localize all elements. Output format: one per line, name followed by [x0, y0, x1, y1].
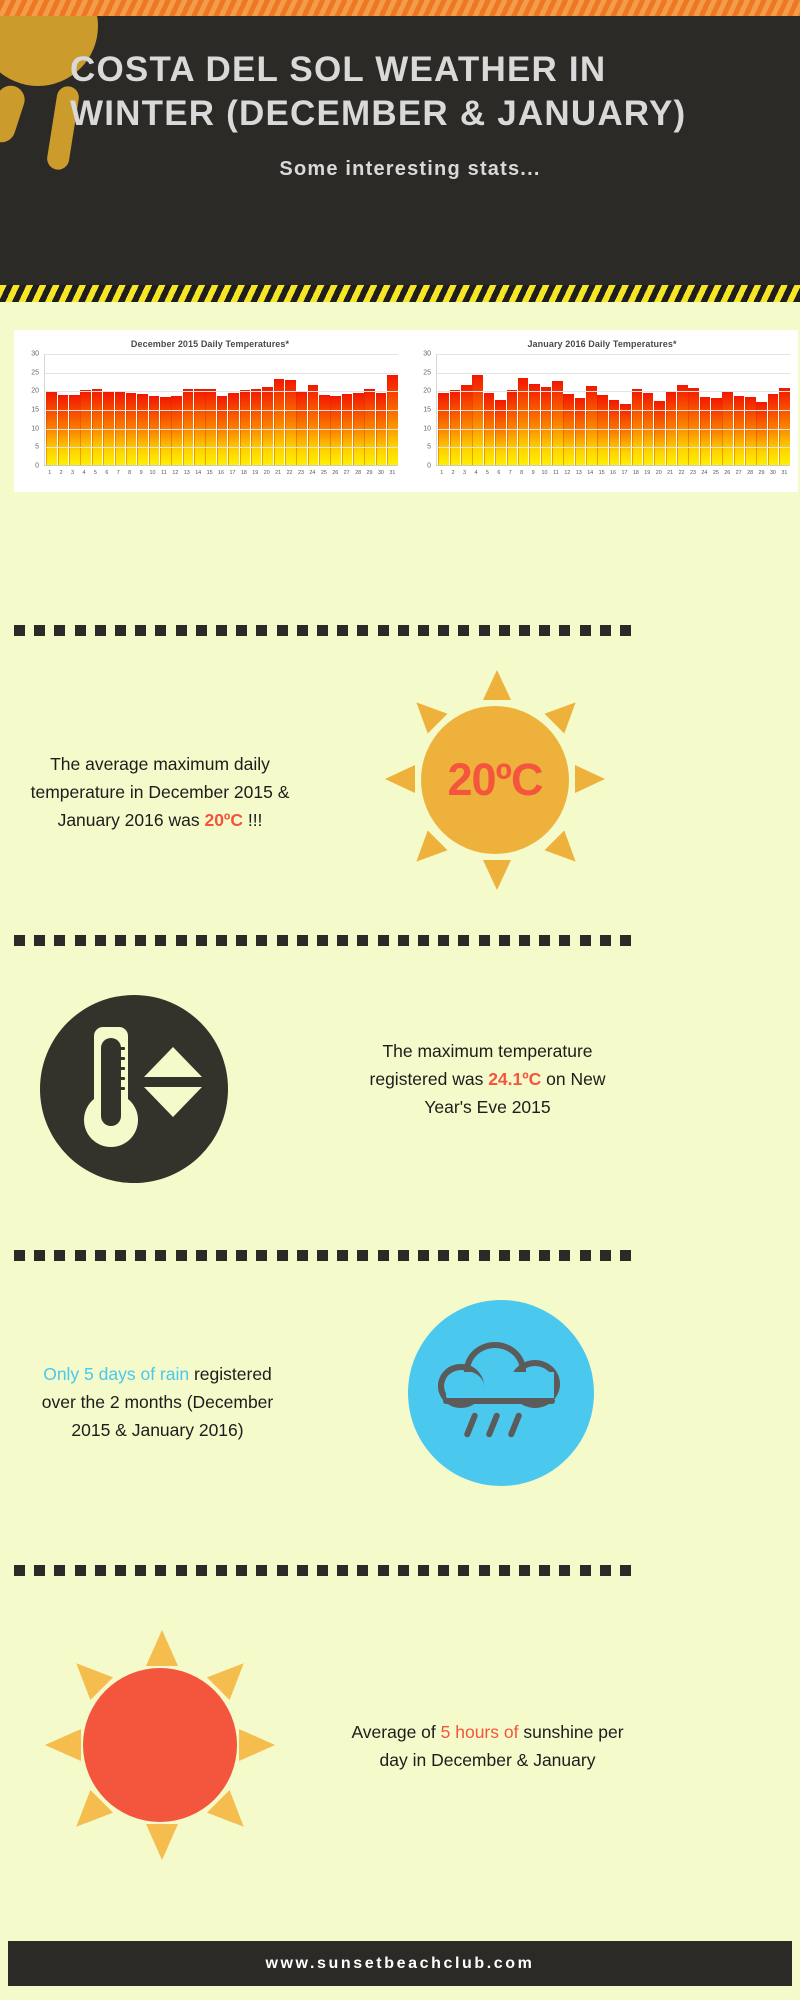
chart-january-bar [575, 398, 586, 465]
dash-square [176, 935, 187, 946]
dash-square [600, 1565, 611, 1576]
chart-december-bar [183, 389, 194, 465]
chart-december-x-tick: 3 [67, 468, 78, 480]
dash-square [559, 625, 570, 636]
chart-january-y-tick: 30 [423, 351, 431, 358]
chart-december-x-tick: 20 [261, 468, 272, 480]
dash-square [499, 1250, 510, 1261]
chart-january-y-tick: 10 [423, 425, 431, 432]
chart-january-bar [745, 397, 756, 465]
dash-square [155, 625, 166, 636]
chart-december-grid [44, 354, 398, 466]
sun-ray-icon [385, 765, 415, 793]
raindrop-icon [507, 1412, 522, 1438]
infographic-page: COSTA DEL SOL WEATHER IN WINTER (DECEMBE… [0, 0, 800, 2000]
chart-december-x-tick: 15 [204, 468, 215, 480]
dash-square [479, 1250, 490, 1261]
dash-square [297, 1565, 308, 1576]
dash-square [479, 1565, 490, 1576]
dash-square [458, 1565, 469, 1576]
chart-january-x-tick: 9 [527, 468, 538, 480]
dash-square [155, 1250, 166, 1261]
chart-january-bar [541, 387, 552, 465]
chart-january-bar [677, 385, 688, 465]
chart-december-x-tick: 4 [78, 468, 89, 480]
chart-december-bar [194, 389, 205, 465]
chart-january-x-tick: 13 [573, 468, 584, 480]
dash-square [337, 1250, 348, 1261]
dash-square [438, 1250, 449, 1261]
chart-january-x-tick: 8 [516, 468, 527, 480]
dash-square [499, 1565, 510, 1576]
chart-january-bar [632, 389, 643, 465]
chart-january-x-axis: 1234567891011121314151617181920212223242… [436, 468, 790, 480]
footer-bar: www.sunsetbeachclub.com [8, 1941, 792, 1986]
dash-square [479, 625, 490, 636]
chart-january-x-tick: 2 [447, 468, 458, 480]
dash-square [539, 1250, 550, 1261]
dash-square [216, 1250, 227, 1261]
dash-square [277, 935, 288, 946]
dash-square [418, 625, 429, 636]
dash-square [95, 935, 106, 946]
chart-december-x-tick: 17 [227, 468, 238, 480]
dash-square [519, 1565, 530, 1576]
dash-square [135, 1250, 146, 1261]
chart-december-bar [262, 387, 273, 465]
dash-square [580, 1565, 591, 1576]
dash-square [600, 935, 611, 946]
dash-square [216, 1565, 227, 1576]
chart-january-x-tick: 31 [779, 468, 790, 480]
chart-december-gridline [45, 410, 398, 411]
dash-square [95, 1565, 106, 1576]
thermometer-mark [112, 1067, 125, 1070]
chart-january-x-tick: 5 [482, 468, 493, 480]
dash-square [34, 1565, 45, 1576]
chart-january-bar [597, 395, 608, 465]
dash-square [297, 935, 308, 946]
chart-december-x-tick: 7 [113, 468, 124, 480]
arrow-down-icon [144, 1087, 202, 1117]
chart-january-x-tick: 25 [710, 468, 721, 480]
rain-cloud-icon [408, 1300, 594, 1486]
chart-january-gridline [437, 373, 790, 374]
chart-december-y-tick: 0 [35, 463, 39, 470]
chart-january-x-tick: 15 [596, 468, 607, 480]
dashed-divider-2 [14, 935, 624, 946]
dash-square [458, 935, 469, 946]
chart-january-bar [586, 386, 597, 465]
thermometer-mark [112, 1077, 125, 1080]
dashed-divider-1 [14, 625, 624, 636]
chart-december-x-tick: 29 [364, 468, 375, 480]
chart-december-bar [364, 389, 375, 465]
dash-square [438, 1565, 449, 1576]
chart-december-x-tick: 22 [284, 468, 295, 480]
thermometer-mark [112, 1047, 125, 1050]
chart-december-y-tick: 25 [31, 369, 39, 376]
dash-square [317, 1565, 328, 1576]
chart-december-x-tick: 24 [307, 468, 318, 480]
stat-rain-days-text: Only 5 days of rain registered over the … [25, 1360, 290, 1444]
dash-square [519, 935, 530, 946]
sun-ray-icon [146, 1824, 178, 1860]
chart-january-bar [734, 396, 745, 465]
dash-square [539, 1565, 550, 1576]
sun-icon: 20ºC [385, 670, 605, 890]
stat-sunshine-hours-text: Average of 5 hours of sunshine per day i… [350, 1718, 625, 1774]
chart-january-x-tick: 29 [756, 468, 767, 480]
chart-december-bar [251, 389, 262, 465]
dash-square [418, 1250, 429, 1261]
sun-ray-icon [575, 765, 605, 793]
chart-december-x-tick: 1 [44, 468, 55, 480]
stat-max-temperature: The maximum temperature registered was 2… [0, 985, 640, 1185]
dash-square [216, 935, 227, 946]
dash-square [196, 625, 207, 636]
chart-december-x-tick: 12 [170, 468, 181, 480]
chart-january-x-tick: 19 [642, 468, 653, 480]
chart-january-gridline [437, 429, 790, 430]
sun-ray-icon [483, 670, 511, 700]
cloud-base [443, 1398, 555, 1404]
dash-square [34, 1250, 45, 1261]
chart-january-y-tick: 5 [427, 444, 431, 451]
chart-january-x-tick: 27 [733, 468, 744, 480]
chart-january-gridline [437, 447, 790, 448]
dash-square [196, 935, 207, 946]
stat-sunshine-hours: Average of 5 hours of sunshine per day i… [0, 1600, 640, 1900]
dash-square [256, 1250, 267, 1261]
dash-square [34, 625, 45, 636]
dash-square [357, 1250, 368, 1261]
sun-ray-icon [544, 692, 585, 733]
chart-january-grid [436, 354, 790, 466]
chart-january-x-tick: 18 [630, 468, 641, 480]
chart-january-bar [756, 402, 767, 465]
chart-december-x-tick: 14 [192, 468, 203, 480]
dash-square [75, 1250, 86, 1261]
chart-december-x-tick: 9 [135, 468, 146, 480]
chart-january-x-tick: 24 [699, 468, 710, 480]
dash-square [135, 935, 146, 946]
chart-december-gridline [45, 373, 398, 374]
chart-december-x-tick: 30 [375, 468, 386, 480]
dash-square [256, 625, 267, 636]
chart-december-x-tick: 10 [147, 468, 158, 480]
dash-square [398, 935, 409, 946]
dash-square [378, 935, 389, 946]
dash-square [337, 1565, 348, 1576]
dash-square [378, 625, 389, 636]
dash-square [620, 1250, 631, 1261]
chart-december-bar [285, 380, 296, 465]
chart-december-x-tick: 13 [181, 468, 192, 480]
chart-january-x-tick: 17 [619, 468, 630, 480]
chart-december-gridline [45, 354, 398, 355]
chart-december-x-axis: 1234567891011121314151617181920212223242… [44, 468, 398, 480]
dash-square [580, 625, 591, 636]
chart-january-bar [529, 384, 540, 465]
dash-square [277, 1565, 288, 1576]
chart-january-bar [461, 385, 472, 465]
dash-square [499, 625, 510, 636]
dash-square [54, 625, 65, 636]
dash-square [418, 935, 429, 946]
chart-december-y-tick: 20 [31, 388, 39, 395]
chart-december-x-tick: 19 [250, 468, 261, 480]
dash-square [54, 1250, 65, 1261]
chart-january-bar [552, 381, 563, 465]
dash-square [438, 625, 449, 636]
chart-january-x-tick: 10 [539, 468, 550, 480]
dash-square [54, 1565, 65, 1576]
chart-december-x-tick: 11 [158, 468, 169, 480]
dash-square [539, 625, 550, 636]
chart-december-title: December 2015 Daily Temperatures* [20, 339, 400, 352]
chart-january-y-tick: 0 [427, 463, 431, 470]
chart-december-bar [205, 389, 216, 465]
dash-square [357, 935, 368, 946]
dash-square [398, 1250, 409, 1261]
dash-square [155, 935, 166, 946]
dash-square [75, 935, 86, 946]
chart-december-bar [149, 396, 160, 465]
chart-january-y-tick: 20 [423, 388, 431, 395]
dash-square [95, 625, 106, 636]
chart-january-bar [688, 388, 699, 465]
stat-text-part: Average of [351, 1722, 440, 1742]
dash-square [620, 1565, 631, 1576]
dash-square [14, 1250, 25, 1261]
dash-square [236, 1250, 247, 1261]
dash-square [14, 1565, 25, 1576]
dash-square [398, 625, 409, 636]
dash-square [357, 1565, 368, 1576]
chart-december-y-tick: 15 [31, 407, 39, 414]
raindrop-icon [485, 1412, 500, 1438]
chart-january-y-axis: 051015202530 [412, 354, 434, 466]
dash-square [277, 625, 288, 636]
sun-red-icon [45, 1630, 275, 1860]
dash-square [539, 935, 550, 946]
chart-december-bar [387, 375, 398, 465]
chart-january-title: January 2016 Daily Temperatures* [412, 339, 792, 352]
dashed-divider-3 [14, 1250, 624, 1261]
dash-square [176, 1565, 187, 1576]
stat-text-part: !!! [243, 810, 262, 830]
dash-square [317, 935, 328, 946]
dash-square [155, 1565, 166, 1576]
dash-square [297, 625, 308, 636]
dash-square [620, 625, 631, 636]
chart-january-x-tick: 1 [436, 468, 447, 480]
dash-square [95, 1250, 106, 1261]
chart-january-gridline [437, 410, 790, 411]
dash-square [337, 935, 348, 946]
dash-square [115, 1565, 126, 1576]
chart-december-bar [308, 385, 319, 465]
sun-ray-icon [483, 860, 511, 890]
arrow-up-icon [144, 1047, 202, 1077]
dash-square [196, 1250, 207, 1261]
sun-disc: 20ºC [421, 706, 569, 854]
chart-december-x-tick: 6 [101, 468, 112, 480]
dash-square [317, 625, 328, 636]
chart-december: December 2015 Daily Temperatures* 051015… [14, 330, 406, 492]
dash-square [317, 1250, 328, 1261]
hazard-stripe-divider [0, 285, 800, 302]
chart-january-x-tick: 20 [653, 468, 664, 480]
header-banner: COSTA DEL SOL WEATHER IN WINTER (DECEMBE… [0, 0, 800, 285]
chart-january-x-tick: 23 [687, 468, 698, 480]
dash-square [75, 1565, 86, 1576]
chart-december-y-tick: 30 [31, 351, 39, 358]
dash-square [559, 1565, 570, 1576]
chart-january-y-tick: 15 [423, 407, 431, 414]
chart-january-x-tick: 14 [584, 468, 595, 480]
dash-square [458, 1250, 469, 1261]
thermometer-mark [112, 1057, 125, 1060]
sun-ray-icon [146, 1630, 178, 1666]
chart-december-bar [69, 395, 80, 465]
dash-square [559, 935, 570, 946]
dash-square [378, 1250, 389, 1261]
dash-square [337, 625, 348, 636]
chart-january-gridline [437, 354, 790, 355]
thermometer-graphic [40, 995, 228, 1183]
footer-url[interactable]: www.sunsetbeachclub.com [265, 1955, 534, 1973]
dash-square [519, 625, 530, 636]
stat-rain-days: Only 5 days of rain registered over the … [0, 1300, 640, 1500]
chart-december-gridline [45, 447, 398, 448]
thermometer-mark [112, 1087, 125, 1090]
chart-january-x-tick: 12 [562, 468, 573, 480]
dash-square [135, 625, 146, 636]
chart-december-x-tick: 21 [272, 468, 283, 480]
chart-december-x-tick: 25 [318, 468, 329, 480]
chart-december-x-tick: 8 [124, 468, 135, 480]
sun-ray-icon [45, 1729, 81, 1761]
stat-highlight-value: 20ºC [204, 810, 243, 830]
chart-january-plot: 051015202530 123456789101112131415161718… [412, 354, 792, 482]
dash-square [458, 625, 469, 636]
dashed-divider-4 [14, 1565, 624, 1576]
dash-square [378, 1565, 389, 1576]
chart-december-x-tick: 28 [352, 468, 363, 480]
chart-january-gridline [437, 391, 790, 392]
thermometer-inner-tube [101, 1038, 121, 1126]
chart-december-plot: 051015202530 123456789101112131415161718… [20, 354, 400, 482]
dash-square [559, 1250, 570, 1261]
chart-december-y-tick: 10 [31, 425, 39, 432]
chart-december-bar [92, 389, 103, 465]
chart-december-bar [240, 390, 251, 465]
chart-january-x-tick: 22 [676, 468, 687, 480]
dash-square [620, 935, 631, 946]
chart-january-x-tick: 21 [664, 468, 675, 480]
dash-square [115, 625, 126, 636]
dash-square [398, 1565, 409, 1576]
chart-january-x-tick: 4 [470, 468, 481, 480]
chart-december-bar [319, 395, 330, 465]
dash-square [135, 1565, 146, 1576]
stat-average-temperature-text: The average maximum daily temperature in… [30, 750, 290, 834]
chart-december-x-tick: 2 [55, 468, 66, 480]
chart-january-bar [700, 397, 711, 465]
dash-square [297, 1250, 308, 1261]
chart-january-x-tick: 7 [505, 468, 516, 480]
chart-january-bar [779, 388, 790, 465]
chart-december-x-tick: 16 [215, 468, 226, 480]
stat-max-temperature-text: The maximum temperature registered was 2… [355, 1037, 620, 1121]
chart-december-x-tick: 31 [387, 468, 398, 480]
chart-december-x-tick: 27 [341, 468, 352, 480]
chart-december-bar [80, 390, 91, 465]
chart-december-y-axis: 051015202530 [20, 354, 42, 466]
dash-square [236, 1565, 247, 1576]
stat-highlight-value: Only 5 days of rain [43, 1364, 189, 1384]
chart-january-x-tick: 3 [459, 468, 470, 480]
dash-square [580, 1250, 591, 1261]
chart-january-bar [711, 398, 722, 465]
chart-january-bar [620, 404, 631, 465]
dash-square [499, 935, 510, 946]
dash-square [34, 935, 45, 946]
chart-january-bar [507, 390, 518, 465]
dash-square [600, 625, 611, 636]
dash-square [357, 625, 368, 636]
dash-square [479, 935, 490, 946]
dash-square [115, 935, 126, 946]
chart-december-gridline [45, 391, 398, 392]
dash-square [600, 1250, 611, 1261]
page-subtitle: Some interesting stats... [70, 158, 750, 181]
charts-row: December 2015 Daily Temperatures* 051015… [0, 330, 800, 492]
chart-january-x-tick: 11 [550, 468, 561, 480]
dash-square [277, 1250, 288, 1261]
dash-square [236, 625, 247, 636]
stat-highlight-value: 5 hours of [441, 1722, 519, 1742]
chart-december-x-tick: 23 [295, 468, 306, 480]
raindrop-icon [463, 1412, 478, 1438]
sun-ray-icon [406, 830, 447, 871]
chart-january-x-tick: 30 [767, 468, 778, 480]
chart-december-y-tick: 5 [35, 444, 39, 451]
dash-square [176, 1250, 187, 1261]
dash-square [115, 1250, 126, 1261]
dash-square [256, 1565, 267, 1576]
chart-january-x-tick: 6 [493, 468, 504, 480]
dash-square [14, 935, 25, 946]
chart-january: January 2016 Daily Temperatures* 0510152… [406, 330, 798, 492]
chart-december-x-tick: 18 [238, 468, 249, 480]
chart-december-bar [217, 396, 228, 465]
dash-square [54, 935, 65, 946]
chart-january-x-tick: 26 [722, 468, 733, 480]
chart-december-gridline [45, 429, 398, 430]
dash-square [196, 1565, 207, 1576]
chart-january-bar [472, 375, 483, 465]
chart-december-x-tick: 26 [330, 468, 341, 480]
dash-square [519, 1250, 530, 1261]
chart-december-bar [171, 396, 182, 465]
sun-ray-icon [239, 1729, 275, 1761]
header-sun-ray-icon [0, 82, 28, 146]
dash-square [438, 935, 449, 946]
sun-temperature-label: 20ºC [448, 754, 543, 806]
